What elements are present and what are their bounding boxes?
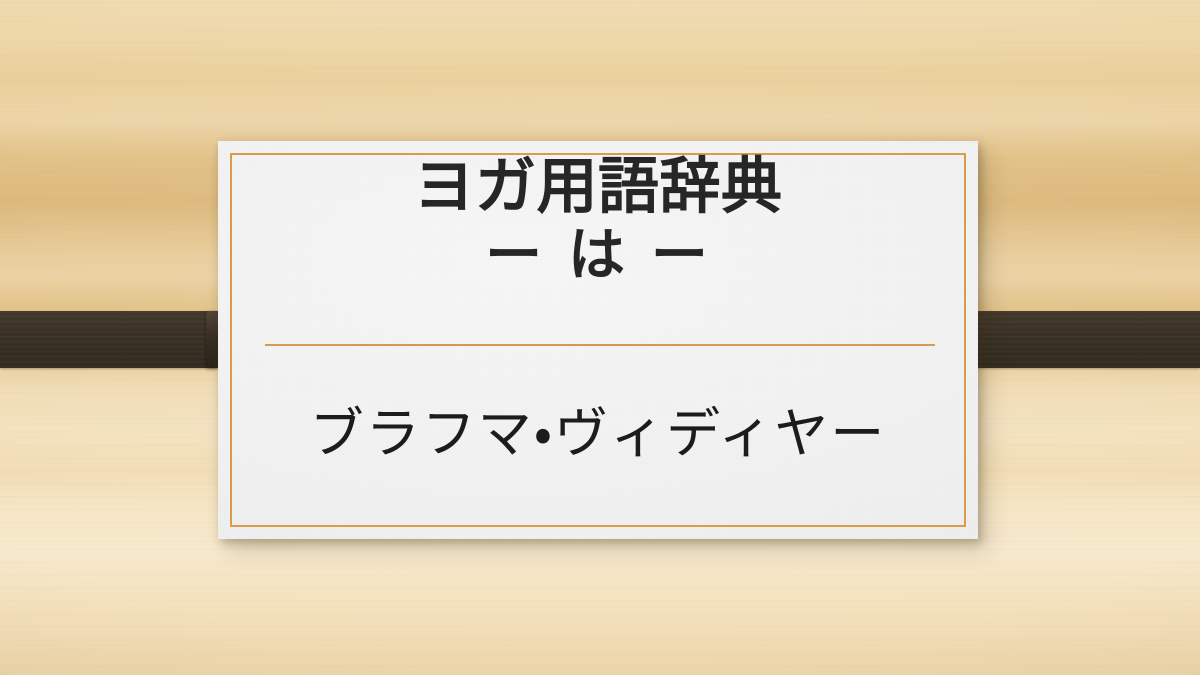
- card-content: ヨガ用語辞典 ー は ー: [218, 141, 978, 539]
- title-block: ヨガ用語辞典 ー は ー: [218, 153, 978, 289]
- title-card: ヨガ用語辞典 ー は ー ブラフマ・ヴィディヤー: [218, 141, 978, 539]
- slide-canvas: ヨガ用語辞典 ー は ー ブラフマ・ヴィディヤー: [0, 0, 1200, 675]
- title-subheading: ー は ー: [218, 223, 978, 289]
- divider-rule: [265, 344, 935, 346]
- term-label: ブラフマ・ヴィディヤー: [218, 389, 978, 468]
- ribbon-cap-left-side: [206, 311, 218, 368]
- page-title: ヨガ用語辞典: [218, 153, 978, 221]
